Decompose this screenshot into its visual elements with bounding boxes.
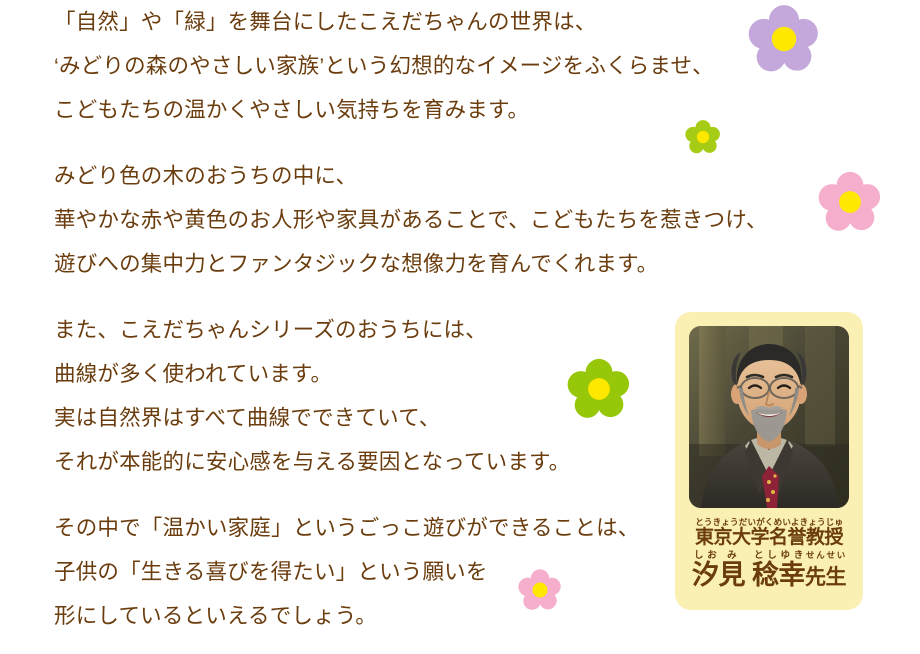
name-surname-char-1: 汐 (692, 560, 719, 590)
paragraph-line: それが本能的に安心感を与える要因となっています。 (54, 440, 774, 484)
name-surname-char-2: 見 (718, 560, 745, 590)
supervisor-caption: 東京大学名誉教授とうきょうだいがくめいよきょうじゅ 汐しお見み 稔とし幸ゆき先生… (689, 517, 849, 589)
paragraph-2: みどり色の木のおうちの中に、 華やかな赤や黄色のお人形や家具があることで、こども… (54, 154, 774, 286)
paragraph-line: 華やかな赤や黄色のお人形や家具があることで、こどもたちを惹きつけ、 (54, 198, 774, 242)
name-given-ruby-1: とし (752, 550, 779, 561)
affiliation-furigana: とうきょうだいがくめいよきょうじゅ (695, 517, 843, 527)
article-body: 「自然」や「緑」を舞台にしたこえだちゃんの世界は、 ‘みどりの森のやさしい家族’… (54, 0, 774, 638)
name-honorific: 先生 (805, 566, 846, 589)
paragraph-line: その中で「温かい家庭」というごっこ遊びができることは、 (54, 506, 774, 550)
supervisor-affiliation: 東京大学名誉教授とうきょうだいがくめいよきょうじゅ (689, 517, 849, 547)
paragraph-line: また、こえだちゃんシリーズのおうちには、 (54, 308, 774, 352)
paragraph-line: 遊びへの集中力とファンタジックな想像力を育んでくれます。 (54, 242, 774, 286)
name-honorific-wrap: 先生せんせい (805, 566, 846, 589)
paragraph-4: その中で「温かい家庭」というごっこ遊びができることは、 子供の「生きる喜びを得た… (54, 506, 774, 638)
name-honorific-ruby: せんせい (805, 550, 846, 560)
paragraph-1: 「自然」や「緑」を舞台にしたこえだちゃんの世界は、 ‘みどりの森のやさしい家族’… (54, 0, 774, 132)
flower-pink-right (818, 170, 882, 239)
name-given-char-2: 幸 (779, 560, 806, 590)
name-surname-ruby-1: しお (692, 550, 719, 561)
name-given-char-1: 稔 (752, 560, 779, 590)
paragraph-line: ‘みどりの森のやさしい家族’という幻想的なイメージをふくらませ、 (54, 44, 774, 88)
paragraph-line: こどもたちの温かくやさしい気持ちを育みます。 (54, 88, 774, 132)
flower-purple-top-right (748, 3, 820, 80)
affiliation-text: 東京大学名誉教授 (695, 527, 843, 548)
flower-green-middle (567, 357, 631, 426)
flower-pink-small-bottom (518, 568, 562, 617)
supervisor-name: 汐しお見み 稔とし幸ゆき先生せんせい (689, 550, 849, 589)
paragraph-line: 子供の「生きる喜びを得たい」という願いを (54, 550, 774, 594)
paragraph-line: 曲線が多く使われています。 (54, 352, 774, 396)
supervisor-photo (689, 326, 849, 508)
supervisor-profile-card: 東京大学名誉教授とうきょうだいがくめいよきょうじゅ 汐しお見み 稔とし幸ゆき先生… (675, 312, 863, 610)
paragraph-3: また、こえだちゃんシリーズのおうちには、 曲線が多く使われています。 実は自然界… (54, 308, 774, 484)
flower-green-small-upper (685, 119, 721, 160)
paragraph-line: 実は自然界はすべて曲線でできていて、 (54, 396, 774, 440)
page-root: 「自然」や「緑」を舞台にしたこえだちゃんの世界は、 ‘みどりの森のやさしい家族’… (0, 0, 920, 654)
paragraph-line: みどり色の木のおうちの中に、 (54, 154, 774, 198)
paragraph-line: 「自然」や「緑」を舞台にしたこえだちゃんの世界は、 (54, 0, 774, 44)
name-space (745, 560, 752, 590)
name-given-ruby-2: ゆき (779, 550, 806, 561)
paragraph-line: 形にしているといえるでしょう。 (54, 594, 774, 638)
name-surname-ruby-2: み (718, 550, 745, 561)
